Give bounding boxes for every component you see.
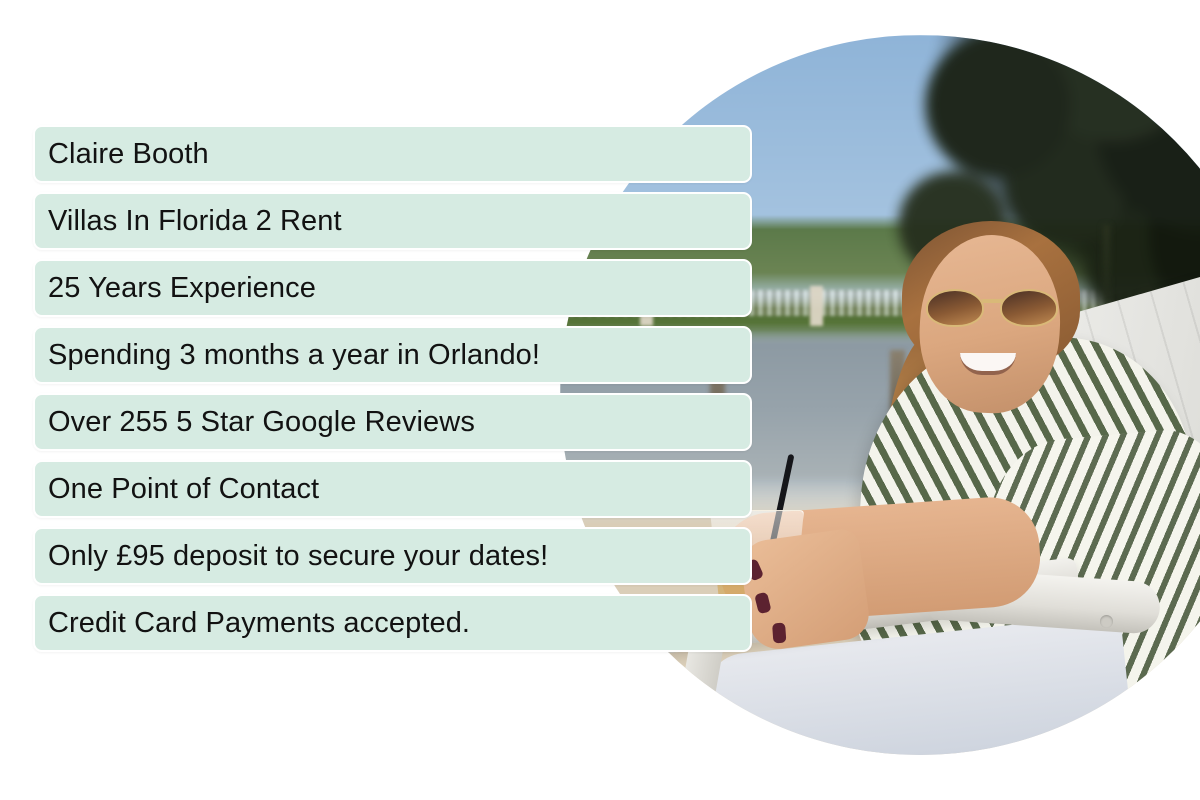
feature-label: One Point of Contact	[48, 475, 319, 504]
feature-bar-deposit[interactable]: Only £95 deposit to secure your dates!	[33, 527, 752, 585]
feature-label: Credit Card Payments accepted.	[48, 609, 470, 638]
feature-label: Over 255 5 Star Google Reviews	[48, 408, 475, 437]
fingernail	[754, 592, 771, 615]
feature-bar-reviews[interactable]: Over 255 5 Star Google Reviews	[33, 393, 752, 451]
pier-post	[810, 286, 823, 326]
feature-bar-company[interactable]: Villas In Florida 2 Rent	[33, 192, 752, 250]
promo-card: Claire Booth Villas In Florida 2 Rent 25…	[0, 0, 1200, 800]
feature-label: Claire Booth	[48, 140, 209, 169]
sunglass-lens-right	[1000, 289, 1058, 327]
sunglasses-icon	[926, 289, 1058, 329]
feature-label: Villas In Florida 2 Rent	[48, 207, 342, 236]
fingernail	[772, 623, 786, 644]
feature-label: 25 Years Experience	[48, 274, 316, 303]
chair-screw	[1100, 615, 1113, 628]
feature-label: Only £95 deposit to secure your dates!	[48, 542, 548, 571]
sunglass-lens-left	[926, 289, 984, 327]
feature-label: Spending 3 months a year in Orlando!	[48, 341, 540, 370]
feature-bar-name[interactable]: Claire Booth	[33, 125, 752, 183]
feature-bar-payments[interactable]: Credit Card Payments accepted.	[33, 594, 752, 652]
feature-bar-time-in-orlando[interactable]: Spending 3 months a year in Orlando!	[33, 326, 752, 384]
person-hand	[738, 527, 872, 653]
feature-bar-contact[interactable]: One Point of Contact	[33, 460, 752, 518]
feature-bar-experience[interactable]: 25 Years Experience	[33, 259, 752, 317]
feature-list: Claire Booth Villas In Florida 2 Rent 25…	[33, 125, 752, 661]
